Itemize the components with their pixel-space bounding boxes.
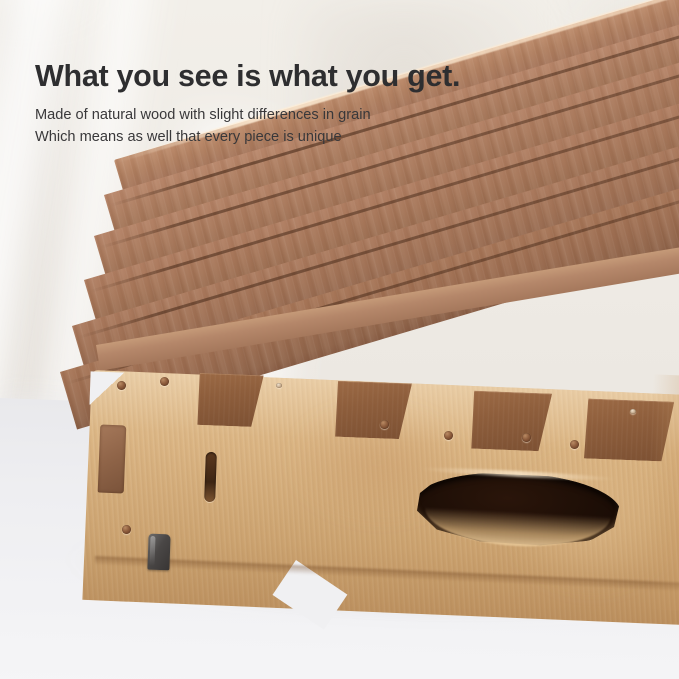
rivet [276,383,282,388]
notch-block [330,381,412,440]
product-banner-scene: What you see is what you get. Made of na… [0,0,679,679]
rivet [122,525,131,534]
rivet [117,381,126,390]
marketing-copy: What you see is what you get. Made of na… [35,60,555,149]
rivet [630,409,636,414]
subtitle-line-2: Which means as well that every piece is … [35,126,555,148]
page-title: What you see is what you get. [35,60,555,93]
subtitle-line-1: Made of natural wood with slight differe… [35,104,555,126]
notch-block [192,373,263,427]
rivet [380,420,389,429]
rivet [522,433,531,442]
left-edge-tab [98,425,127,494]
rivet [570,440,579,449]
apron-left-corner [89,371,124,408]
rivet [444,431,453,440]
notch-block [466,391,552,452]
rivet [160,377,169,386]
clip-highlight [149,536,155,566]
alignment-slot [204,452,217,502]
